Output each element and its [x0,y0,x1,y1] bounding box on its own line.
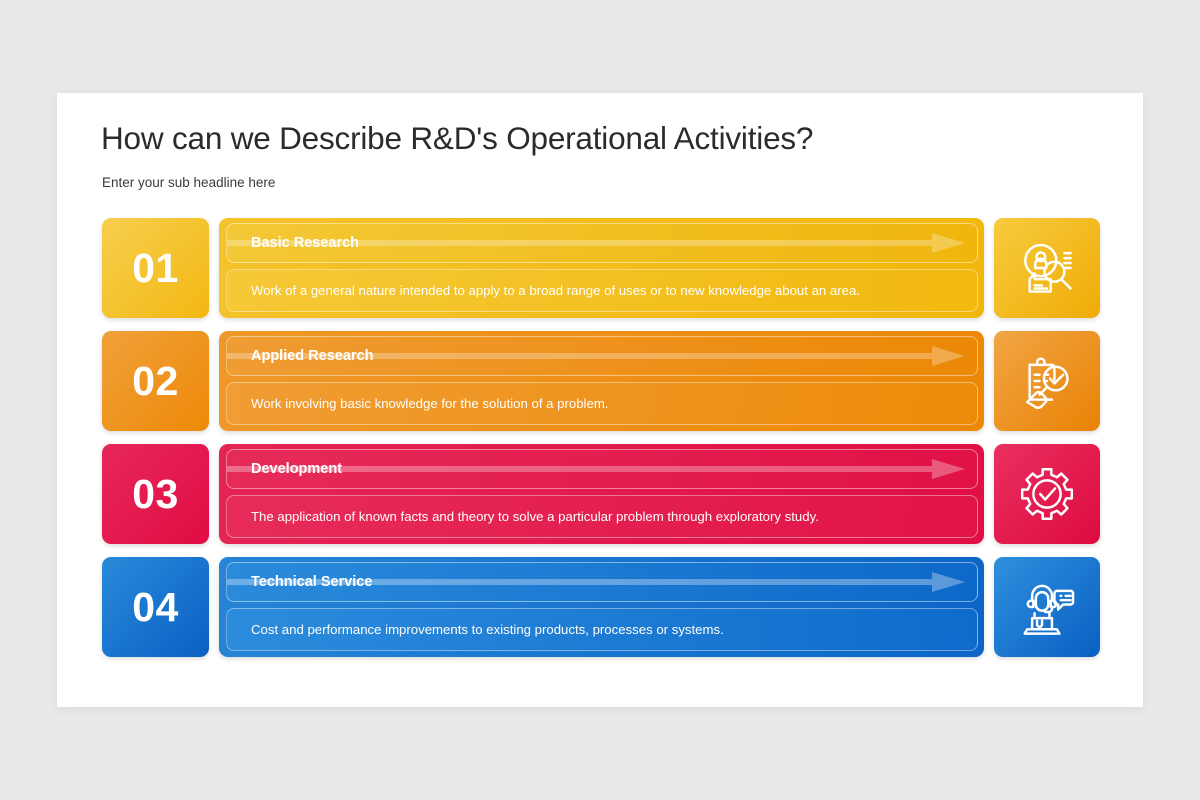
person-search-magnifier-icon [1016,237,1078,299]
description-band: Work involving basic knowledge for the s… [226,382,978,425]
step-number-box[interactable]: 04 [102,557,209,657]
item-title: Basic Research [251,235,359,251]
activity-list: 01 Basic Research Work of a general natu… [102,218,1100,670]
description-band: Cost and performance improvements to exi… [226,608,978,651]
list-item[interactable]: 02 Applied Research Work involving basic… [102,331,1100,431]
item-title: Technical Service [251,574,372,590]
content-panel[interactable]: Basic Research Work of a general nature … [219,218,984,318]
list-item[interactable]: 04 Technical Service Cost and performanc… [102,557,1100,657]
description-band: Work of a general nature intended to app… [226,269,978,312]
slide-card: How can we Describe R&D's Operational Ac… [57,93,1143,707]
title-band: Basic Research [226,223,978,263]
list-item[interactable]: 03 Development The application of known … [102,444,1100,544]
item-title: Development [251,461,342,477]
step-number-box[interactable]: 01 [102,218,209,318]
content-panel[interactable]: Development The application of known fac… [219,444,984,544]
support-agent-laptop-icon [1016,576,1078,638]
step-number: 04 [132,587,179,628]
step-number: 03 [132,474,179,515]
step-number-box[interactable]: 02 [102,331,209,431]
icon-tile[interactable] [994,557,1100,657]
item-description: Work involving basic knowledge for the s… [251,396,608,411]
clipboard-check-magnifier-icon [1016,350,1078,412]
step-number: 02 [132,361,179,402]
content-panel[interactable]: Applied Research Work involving basic kn… [219,331,984,431]
title-band: Applied Research [226,336,978,376]
item-title: Applied Research [251,348,374,364]
list-item[interactable]: 01 Basic Research Work of a general natu… [102,218,1100,318]
icon-tile[interactable] [994,444,1100,544]
title-band: Technical Service [226,562,978,602]
item-description: Cost and performance improvements to exi… [251,622,724,637]
page-title: How can we Describe R&D's Operational Ac… [101,120,813,157]
page-subtitle: Enter your sub headline here [102,175,275,190]
icon-tile[interactable] [994,218,1100,318]
item-description: The application of known facts and theor… [251,509,819,524]
content-panel[interactable]: Technical Service Cost and performance i… [219,557,984,657]
step-number-box[interactable]: 03 [102,444,209,544]
step-number: 01 [132,248,179,289]
gear-check-icon [1016,463,1078,525]
item-description: Work of a general nature intended to app… [251,283,860,298]
icon-tile[interactable] [994,331,1100,431]
description-band: The application of known facts and theor… [226,495,978,538]
title-band: Development [226,449,978,489]
